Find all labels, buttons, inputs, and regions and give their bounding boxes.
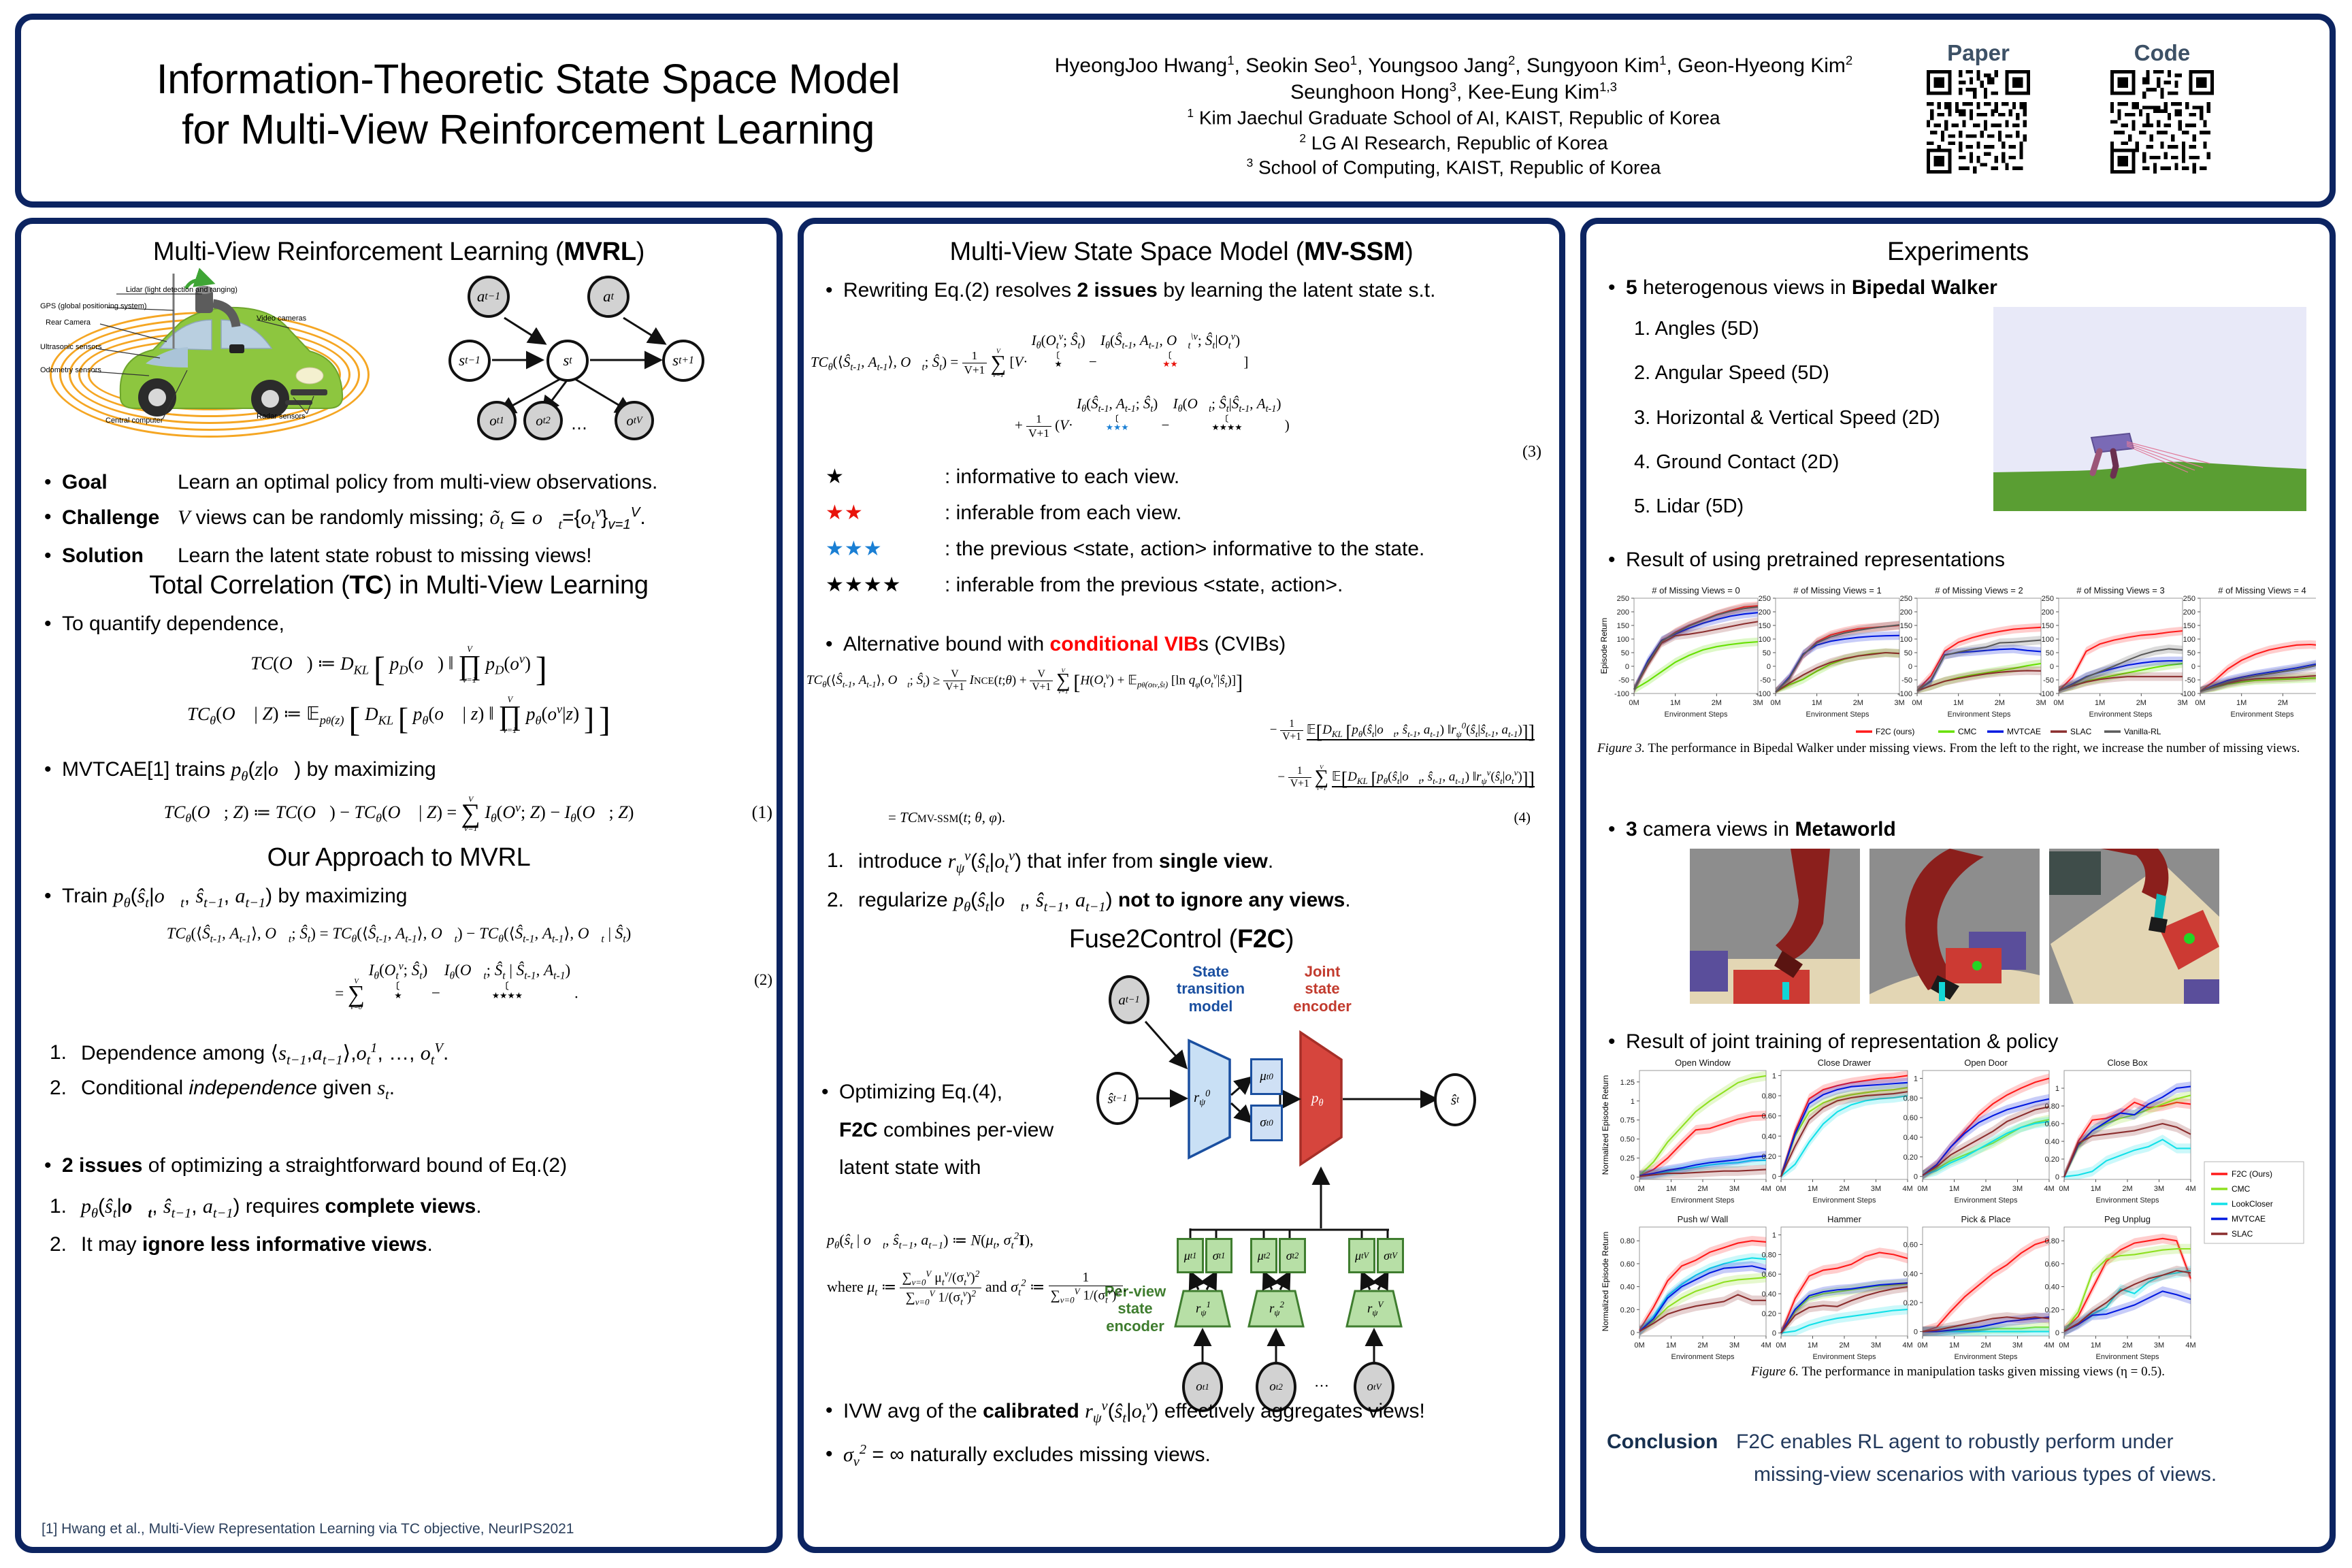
list-number: 2. — [50, 1075, 81, 1105]
svg-text:Pick & Place: Pick & Place — [1961, 1214, 2011, 1224]
svg-text:200: 200 — [1759, 608, 1771, 617]
svg-text:0: 0 — [2055, 1329, 2059, 1337]
car-label-ultrasonic: Ultrasonic sensors — [40, 343, 101, 351]
svg-text:150: 150 — [2042, 622, 2054, 630]
point2-pre: Conditional — [81, 1077, 189, 1099]
svg-text:Environment Steps: Environment Steps — [1948, 710, 2011, 719]
svg-text:Episode Return: Episode Return — [1599, 618, 1609, 674]
svg-text:Environment Steps: Environment Steps — [1665, 710, 1728, 719]
svg-text:Environment Steps: Environment Steps — [1671, 1353, 1735, 1361]
affiliation-3: 3 School of Computing, KAIST, Republic o… — [1001, 155, 1906, 180]
f2c-node-s-hat-t: ŝt — [1434, 1073, 1476, 1126]
mvssm-section-title: Multi-View State Space Model (MV-SSM) — [817, 238, 1546, 267]
optimizing-f2c-bold: F2C — [839, 1119, 878, 1141]
f2c-block-r-psi-V: rψV — [1367, 1299, 1383, 1318]
column-experiments: Experiments • 5 heterogenous views in Bi… — [1580, 218, 2336, 1553]
code-qr-block[interactable]: Code — [2110, 40, 2214, 177]
mvrl-goal-row: • GoalLearn an optimal policy from multi… — [44, 469, 755, 495]
goal-text: Learn an optimal policy from multi-view … — [178, 471, 657, 493]
f2c-node-s-hat-t-minus-1: ŝt−1 — [1096, 1072, 1139, 1125]
rewrite-bold: 2 issues — [1077, 279, 1157, 301]
svg-text:Push w/ Wall: Push w/ Wall — [1678, 1214, 1729, 1224]
svg-text:4M: 4M — [1761, 1185, 1771, 1193]
equation-1-number: (1) — [752, 802, 772, 823]
svg-text:2M: 2M — [2122, 1185, 2132, 1193]
issue-1: 1. pθ(ŝt|o⃗t, ŝt−1, at−1) requires compl… — [50, 1193, 482, 1223]
star-symbol-3: ★★★ — [826, 537, 945, 561]
svg-text:1M: 1M — [2236, 699, 2247, 707]
self-driving-car-illustration: Lidar (light detection and ranging) GPS … — [40, 261, 394, 445]
svg-text:250: 250 — [1900, 595, 1912, 603]
svg-text:2M: 2M — [1839, 1185, 1849, 1193]
svg-text:0: 0 — [1631, 1174, 1635, 1182]
star-legend-1: ★ : informative to each view. — [826, 465, 1529, 489]
svg-text:0.20: 0.20 — [1762, 1153, 1776, 1161]
svg-text:Vanilla-RL: Vanilla-RL — [2124, 727, 2161, 736]
svg-text:0.50: 0.50 — [1620, 1136, 1635, 1144]
figure-3-caption: Figure 3. The performance in Bipedal Wal… — [1597, 741, 2319, 756]
svg-text:0M: 0M — [1912, 699, 1922, 707]
svg-text:250: 250 — [1617, 595, 1629, 603]
node-s-t-plus-1: st+1 — [662, 340, 704, 382]
views-count: 5 — [1626, 276, 1637, 299]
step1-pre: introduce — [858, 850, 948, 872]
view-list-item: 1. Angles (5D) — [1634, 307, 1974, 351]
f2c-box-sigma-t-2: σt2 — [1279, 1238, 1306, 1273]
f2c-block-r-psi-0: rψ0 — [1194, 1088, 1210, 1109]
figure-6: Open Window00.250.500.7511.250M1M2M3M4ME… — [1597, 1054, 2316, 1362]
svg-text:F2C (ours): F2C (ours) — [1876, 727, 1914, 736]
metaworld-mid: camera views in — [1637, 818, 1795, 840]
list-number: 1. — [827, 847, 858, 878]
view-list-item: 5. Lidar (5D) — [1634, 485, 1974, 529]
svg-text:0.60: 0.60 — [1904, 1241, 1918, 1249]
svg-text:0M: 0M — [2053, 699, 2063, 707]
node-o-t-2: ot2 — [523, 401, 563, 440]
svg-text:1M: 1M — [1953, 699, 1963, 707]
solution-label: Solution — [62, 542, 178, 569]
svg-text:0.25: 0.25 — [1620, 1155, 1635, 1163]
f2c-block-r-psi-2: rψ2 — [1269, 1299, 1284, 1318]
paper-qr-label: Paper — [1927, 40, 2030, 66]
conclusion-block: Conclusion F2C enables RL agent to robus… — [1607, 1426, 2308, 1491]
joint-training-text: Result of joint training of representati… — [1626, 1028, 2058, 1055]
bullet-dot: • — [44, 883, 62, 913]
label-state-transition-model: Statetransitionmodel — [1170, 963, 1252, 1015]
svg-text:4M: 4M — [1902, 1185, 1912, 1193]
view-list-item: 2. Angular Speed (5D) — [1634, 351, 1974, 395]
code-qr-icon[interactable] — [2110, 70, 2214, 174]
svg-text:# of Missing Views = 2: # of Missing Views = 2 — [1935, 585, 2023, 595]
svg-text:1: 1 — [2055, 1085, 2059, 1093]
svg-text:150: 150 — [2183, 622, 2195, 630]
svg-text:LookCloser: LookCloser — [2232, 1199, 2273, 1209]
f2c-box-sigma-t-0: σt0 — [1250, 1105, 1283, 1141]
svg-text:MVTCAE: MVTCAE — [2232, 1214, 2266, 1224]
conclusion-line-1: F2C enables RL agent to robustly perform… — [1736, 1426, 2308, 1458]
issues-bold: 2 issues — [62, 1154, 142, 1177]
equation-4-line4: = TCMV-SSM(t; θ, φ). (4) — [806, 809, 1535, 826]
tc-title-prefix: Total Correlation ( — [149, 571, 349, 600]
affiliation-1: 1 Kim Jaechul Graduate School of AI, KAI… — [1001, 105, 1906, 131]
svg-text:200: 200 — [2042, 608, 2054, 617]
svg-text:3M: 3M — [1871, 1341, 1881, 1350]
svg-text:1M: 1M — [2091, 1185, 2101, 1193]
svg-text:1.25: 1.25 — [1620, 1079, 1635, 1087]
svg-text:3M: 3M — [1729, 1185, 1739, 1193]
figure-6-caption-label: Figure 6. — [1751, 1365, 1799, 1379]
svg-text:150: 150 — [1759, 622, 1771, 630]
svg-text:Hammer: Hammer — [1827, 1214, 1862, 1224]
svg-text:0M: 0M — [2059, 1341, 2069, 1350]
equation-3-line1: TCθ(⟨Ŝt-1, At-1⟩, O⃗t; Ŝt) = 1V+1 V∑v=1 … — [811, 331, 1532, 378]
metaworld-view-2 — [1869, 849, 2040, 1004]
authors-line-2: Seunghoon Hong3, Kee-Eung Kim1,3 — [1001, 79, 1906, 105]
mvtcae-bullet: • MVTCAE[1] trains pθ(z|o⃗) by maximizin… — [44, 756, 436, 786]
svg-text:0.80: 0.80 — [2045, 1237, 2059, 1245]
alt-bound-red: conditional VIB — [1050, 633, 1198, 655]
svg-text:0: 0 — [2055, 1173, 2059, 1181]
svg-text:200: 200 — [1617, 608, 1629, 617]
svg-text:0.60: 0.60 — [1762, 1271, 1776, 1279]
svg-text:3M: 3M — [2012, 1185, 2023, 1193]
svg-text:0.80: 0.80 — [1762, 1251, 1776, 1259]
conclusion-line-2: missing-view scenarios with various type… — [1754, 1458, 2308, 1491]
svg-text:50: 50 — [1621, 649, 1629, 657]
star-symbol-2: ★★ — [826, 501, 945, 525]
svg-text:Environment Steps: Environment Steps — [2231, 710, 2294, 719]
joint-training-bullet: • Result of joint training of representa… — [1608, 1028, 2058, 1055]
column-mvssm: Multi-View State Space Model (MV-SSM) • … — [798, 218, 1565, 1553]
mvrl-title-bold: MVRL — [563, 238, 636, 266]
f2c-box-mu-t-V: μtV — [1348, 1238, 1375, 1273]
svg-text:4M: 4M — [2185, 1341, 2195, 1350]
issues-rest: of optimizing a straightforward bound of… — [142, 1154, 567, 1177]
conclusion-label: Conclusion — [1607, 1426, 1736, 1491]
list-number: 1. — [50, 1039, 81, 1070]
svg-text:0.40: 0.40 — [2045, 1138, 2059, 1146]
svg-text:0.80: 0.80 — [1620, 1237, 1635, 1245]
figure-6-caption: Figure 6. The performance in manipulatio… — [1597, 1365, 2319, 1379]
f2c-section-title: Fuse2Control (F2C) — [804, 925, 1559, 954]
issue-2: 2. It may ignore less informative views. — [50, 1231, 433, 1258]
svg-text:3M: 3M — [2154, 1185, 2164, 1193]
challenge-text: V — [178, 506, 190, 529]
svg-text:150: 150 — [1617, 622, 1629, 630]
svg-text:2M: 2M — [1995, 699, 2005, 707]
title-line-2: for Multi-View Reinforcement Learning — [42, 104, 1015, 154]
views-mid: heterogenous views in — [1637, 276, 1852, 299]
list-number: 1. — [50, 1193, 81, 1223]
issue2-pre: It may — [81, 1233, 142, 1256]
svg-text:100: 100 — [1617, 636, 1629, 644]
bullet-dot: • — [826, 277, 843, 304]
node-o-t-1: ot1 — [477, 401, 517, 440]
svg-text:3M: 3M — [1752, 699, 1763, 707]
car-label-odometry: Odometry sensors — [40, 366, 101, 374]
svg-text:0: 0 — [1625, 663, 1629, 671]
f2c-node-a-t-minus-1: at−1 — [1109, 975, 1149, 1024]
svg-text:200: 200 — [2183, 608, 2195, 617]
metaworld-view-1 — [1690, 849, 1860, 1004]
svg-text:1M: 1M — [2091, 1341, 2101, 1350]
bipedal-walker-screenshot — [1993, 307, 2306, 511]
svg-text:Environment Steps: Environment Steps — [2096, 1196, 2159, 1205]
equation-2-number: (2) — [754, 971, 772, 989]
alt-bound-post: s (CVIBs) — [1198, 633, 1286, 655]
bullet-dot: • — [1608, 546, 1626, 573]
svg-text:1M: 1M — [1808, 1185, 1818, 1193]
step1-bold: single view — [1159, 850, 1268, 872]
svg-text:0M: 0M — [1776, 1185, 1786, 1193]
svg-text:# of Missing Views = 4: # of Missing Views = 4 — [2218, 585, 2306, 595]
equation-4-line1: TCθ(⟨Ŝt-1, At-1⟩, O⃗t; Ŝt) ≥ VV+1 INCE(t… — [806, 668, 1535, 695]
f2c-title-prefix: Fuse2Control ( — [1069, 925, 1237, 953]
svg-text:-50: -50 — [2185, 676, 2195, 685]
svg-text:200: 200 — [1900, 608, 1912, 617]
svg-text:2M: 2M — [2136, 699, 2146, 707]
svg-text:0: 0 — [1767, 663, 1771, 671]
svg-text:# of Missing Views = 0: # of Missing Views = 0 — [1652, 585, 1739, 595]
svg-text:-50: -50 — [1618, 676, 1629, 685]
svg-text:0.40: 0.40 — [2045, 1284, 2059, 1292]
mvssm-title-prefix: Multi-View State Space Model ( — [950, 238, 1304, 266]
node-a-t: at — [587, 276, 630, 318]
svg-text:2M: 2M — [1697, 1341, 1708, 1350]
svg-text:0: 0 — [1914, 1328, 1918, 1337]
svg-text:100: 100 — [1759, 636, 1771, 644]
svg-text:-100: -100 — [1614, 690, 1629, 698]
optimizing-line-1: Optimizing Eq.(4), — [839, 1073, 1002, 1111]
equation-4-number: (4) — [1514, 809, 1531, 826]
equation-4-line2: − 1V+1 𝔼[DKL [pθ(ŝt|o⃗t, ŝt-1, at-1) ‖rψ… — [806, 718, 1535, 743]
equation-gaussian: pθ(ŝt | o⃗t, ŝt−1, at−1) ≔ N(μt, σt2I), … — [827, 1231, 1262, 1308]
f2c-box-sigma-t-V: σtV — [1377, 1238, 1404, 1273]
bullet-dot: • — [826, 631, 843, 657]
svg-text:2M: 2M — [1712, 699, 1722, 707]
svg-text:3M: 3M — [1729, 1341, 1739, 1350]
svg-text:250: 250 — [1759, 595, 1771, 603]
svg-text:0M: 0M — [1770, 699, 1780, 707]
svg-text:0.40: 0.40 — [1762, 1132, 1776, 1141]
svg-text:Normalized Episode Return: Normalized Episode Return — [1601, 1075, 1610, 1175]
solution-text: Learn the latent state robust to missing… — [178, 544, 592, 567]
svg-text:# of Missing Views = 1: # of Missing Views = 1 — [1793, 585, 1881, 595]
metaworld-camera-views — [1690, 849, 2219, 1004]
svg-text:0M: 0M — [1917, 1341, 1927, 1350]
svg-text:1M: 1M — [2095, 699, 2105, 707]
bullet-dot: • — [1608, 1028, 1626, 1055]
f2c-title-bold: F2C — [1237, 925, 1286, 953]
svg-text:1M: 1M — [1949, 1185, 1959, 1193]
svg-text:0.80: 0.80 — [2045, 1102, 2059, 1111]
ivw-bold: calibrated — [983, 1400, 1079, 1422]
svg-text:-100: -100 — [1897, 690, 1912, 698]
step1-post: that infer from — [1022, 850, 1159, 872]
svg-text:2M: 2M — [2122, 1341, 2132, 1350]
reference-footnote: [1] Hwang et al., Multi-View Representat… — [42, 1521, 574, 1537]
svg-text:F2C (Ours): F2C (Ours) — [2232, 1169, 2272, 1179]
svg-text:2M: 2M — [1853, 699, 1863, 707]
svg-text:1M: 1M — [1666, 1185, 1676, 1193]
issues-bullet: • 2 issues of optimizing a straightforwa… — [44, 1152, 567, 1179]
svg-text:0.20: 0.20 — [1904, 1154, 1918, 1162]
svg-text:1M: 1M — [1949, 1341, 1959, 1350]
column-mvrl: Multi-View Reinforcement Learning (MVRL) — [15, 218, 783, 1553]
metaworld-bullet: • 3 camera views in Metaworld — [1608, 816, 1896, 843]
metaworld-view-3 — [2049, 849, 2219, 1004]
svg-text:1: 1 — [1914, 1075, 1918, 1083]
equation-4-line3: − 1V+1 V∑v=1 𝔼[DKL [pθ(ŝt|o⃗t, ŝt-1, at-… — [806, 764, 1535, 791]
optimizing-block: •Optimizing Eq.(4), F2C combines per-vie… — [821, 1073, 1094, 1187]
svg-text:Close Drawer: Close Drawer — [1818, 1058, 1872, 1068]
svg-text:0.80: 0.80 — [1904, 1094, 1918, 1102]
list-number: 2. — [50, 1231, 81, 1258]
svg-text:0M: 0M — [1776, 1341, 1786, 1350]
train-bullet: • Train pθ(ŝt|o⃗t, ŝt−1, at−1) by maximi… — [44, 883, 407, 913]
f2c-block-p-theta: pθ — [1311, 1090, 1324, 1109]
svg-text:3M: 3M — [2012, 1341, 2023, 1350]
ivw-bullet: • IVW avg of the calibrated rψv(ŝt|otv) … — [826, 1397, 1425, 1428]
svg-text:MVTCAE: MVTCAE — [2007, 727, 2041, 736]
svg-text:1M: 1M — [1812, 699, 1822, 707]
svg-text:0.20: 0.20 — [2045, 1306, 2059, 1314]
svg-text:50: 50 — [2187, 649, 2195, 657]
figure-3-caption-label: Figure 3. — [1597, 741, 1645, 755]
svg-text:0M: 0M — [1629, 699, 1639, 707]
poster-header: Information-Theoretic State Space Model … — [15, 14, 2336, 208]
issue2-post: . — [427, 1233, 433, 1256]
car-label-radar: Radar sensors — [257, 412, 306, 421]
svg-text:-50: -50 — [1901, 676, 1912, 685]
svg-text:4M: 4M — [2044, 1341, 2054, 1350]
optimizing-line-3: latent state with — [839, 1149, 1094, 1187]
bullet-dot: • — [826, 1397, 843, 1428]
tc-title-bold: TC — [349, 571, 383, 600]
mvssm-step-2: 2. regularize pθ(ŝt|o⃗t, ŝt−1, at−1) not… — [827, 887, 1351, 917]
svg-text:3M: 3M — [1894, 699, 1904, 707]
svg-text:Peg Unplug: Peg Unplug — [2104, 1214, 2151, 1224]
car-label-video-cameras: Video cameras — [257, 314, 306, 323]
star-text-4: : inferable from the previous <state, ac… — [945, 574, 1343, 597]
svg-text:Environment Steps: Environment Steps — [1671, 1196, 1735, 1205]
optimizing-line-2: combines per-view — [878, 1119, 1053, 1141]
svg-text:2M: 2M — [1839, 1341, 1849, 1350]
svg-text:0.60: 0.60 — [2045, 1120, 2059, 1128]
metaworld-count: 3 — [1626, 818, 1637, 840]
car-label-gps: GPS (global positioning system) — [40, 302, 147, 310]
tc-quantify-text: To quantify dependence, — [62, 610, 284, 637]
svg-text:-100: -100 — [2039, 690, 2054, 698]
svg-text:50: 50 — [1904, 649, 1912, 657]
tc-quantify-bullet: • To quantify dependence, — [44, 610, 284, 637]
star-symbol-4: ★★★★ — [826, 573, 945, 597]
mvssm-step-1: 1. introduce rψv(ŝt|otv) that infer from… — [827, 847, 1273, 878]
svg-text:150: 150 — [1900, 622, 1912, 630]
svg-text:50: 50 — [2046, 649, 2054, 657]
mvtcae-text-a: MVTCAE[1] trains — [62, 758, 231, 781]
equation-tc-definition: TC(O⃗) ≔ DKL [ pD(o⃗) ‖ V∏v=1 pD(ov) ] — [21, 646, 777, 689]
svg-text:Environment Steps: Environment Steps — [1813, 1353, 1876, 1361]
point2-emph: independence — [189, 1077, 317, 1099]
svg-text:3M: 3M — [2177, 699, 2187, 707]
equation-2-line2: = V∑v=0 Iθ(Otv; Ŝt) ﹝ ★ − Iθ(O⃗t; Ŝt | Ŝ… — [21, 960, 777, 1011]
figure-3-caption-text: The performance in Bipedal Walker under … — [1645, 741, 2300, 755]
list-number: 2. — [827, 887, 858, 917]
svg-text:0: 0 — [1772, 1330, 1776, 1338]
bullet-dot: • — [44, 469, 62, 495]
affiliation-2: 2 LG AI Research, Republic of Korea — [1001, 131, 1906, 156]
svg-text:0: 0 — [2191, 663, 2195, 671]
svg-text:SLAC: SLAC — [2070, 727, 2092, 736]
svg-text:-50: -50 — [1760, 676, 1771, 685]
issue1-bold: complete views — [325, 1195, 476, 1218]
svg-text:0.40: 0.40 — [1904, 1270, 1918, 1278]
paper-qr-block[interactable]: Paper — [1927, 40, 2030, 177]
experiments-section-title: Experiments — [1600, 238, 2316, 267]
car-label-central-computer: Central computer — [105, 416, 163, 425]
svg-text:# of Missing Views = 3: # of Missing Views = 3 — [2076, 585, 2164, 595]
svg-text:50: 50 — [1763, 649, 1771, 657]
svg-text:250: 250 — [2183, 595, 2195, 603]
rewrite-pre: Rewriting Eq.(2) resolves — [843, 279, 1077, 301]
svg-text:1M: 1M — [1670, 699, 1680, 707]
f2c-ellipsis: ⋯ — [1314, 1377, 1329, 1394]
title-line-1: Information-Theoretic State Space Model — [157, 56, 900, 102]
bullet-dot: • — [44, 504, 62, 534]
svg-text:0.60: 0.60 — [2045, 1260, 2059, 1269]
svg-text:2M: 2M — [2278, 699, 2288, 707]
svg-text:0.80: 0.80 — [1762, 1092, 1776, 1100]
svg-text:4M: 4M — [1902, 1341, 1912, 1350]
svg-text:CMC: CMC — [2232, 1184, 2251, 1194]
star-text-2: : inferable from each view. — [945, 502, 1182, 525]
svg-text:100: 100 — [1900, 636, 1912, 644]
node-s-t-minus-1: st−1 — [448, 340, 491, 382]
issue2-bold: ignore less informative views — [142, 1233, 427, 1256]
ellipsis-observations: ⋯ — [571, 419, 587, 438]
mvrl-solution-row: • SolutionLearn the latent state robust … — [44, 542, 755, 569]
svg-text:0.20: 0.20 — [1762, 1310, 1776, 1318]
paper-qr-icon[interactable] — [1927, 70, 2030, 174]
approach-point-1: 1. Dependence among ⟨st−1,at−1⟩,ot1, …, … — [50, 1039, 448, 1070]
svg-text:4M: 4M — [2044, 1185, 2054, 1193]
star-legend-4: ★★★★ : inferable from the previous <stat… — [826, 573, 1529, 597]
sigma-bullet: • σv2 = ∞ naturally excludes missing vie… — [826, 1441, 1211, 1471]
svg-text:0.60: 0.60 — [1904, 1114, 1918, 1122]
approach-section-title: Our Approach to MVRL — [21, 843, 777, 872]
bullet-dot: • — [826, 1441, 843, 1471]
node-a-t-minus-1: at−1 — [468, 276, 510, 318]
svg-text:0.75: 0.75 — [1620, 1117, 1635, 1125]
train-text-a: Train — [62, 885, 114, 907]
svg-text:Open Door: Open Door — [1964, 1058, 2008, 1068]
step2-pre: regularize — [858, 889, 953, 911]
svg-text:-50: -50 — [2043, 676, 2054, 685]
approach-point-2: 2. Conditional independence given st. — [50, 1075, 395, 1105]
svg-text:-100: -100 — [1756, 690, 1771, 698]
equation-3-line2: + 1V+1 (V· Iθ(Ŝt-1, At-1; Ŝt) ﹝ ★★★ − Iθ… — [811, 395, 1532, 440]
star-text-1: : informative to each view. — [945, 465, 1179, 489]
svg-text:2M: 2M — [1697, 1185, 1708, 1193]
bullet-dot: • — [1608, 816, 1626, 843]
bullet-dot: • — [44, 1152, 62, 1179]
star-text-3: : the previous <state, action> informati… — [945, 538, 1424, 561]
tc-section-title: Total Correlation (TC) in Multi-View Lea… — [21, 571, 777, 600]
figure-6-caption-text: The performance in manipulation tasks gi… — [1799, 1365, 2165, 1379]
ivw-post: effectively aggregates views! — [1158, 1400, 1424, 1422]
pretrained-bullet: • Result of using pretrained representat… — [1608, 546, 2005, 573]
